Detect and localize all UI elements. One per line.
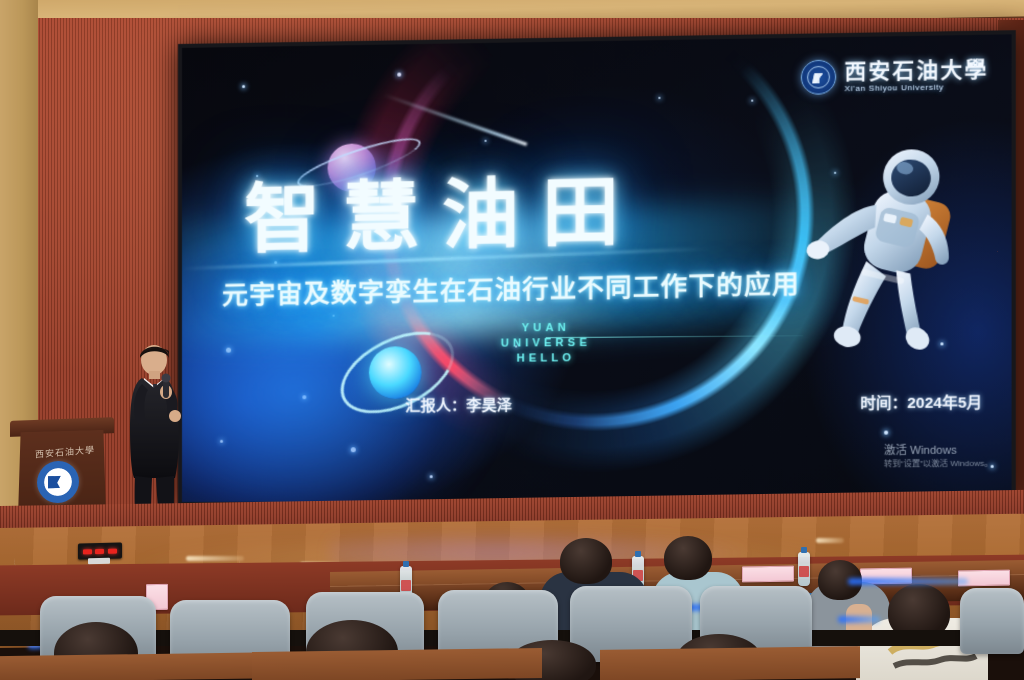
tagline-line-3: HELLO <box>501 351 591 367</box>
aisle-led-strip <box>838 616 880 623</box>
front-desk-top <box>600 646 860 680</box>
windows-activation-watermark: 激活 Windows 转到“设置”以激活 Windows。 <box>884 443 993 469</box>
podium-university-text: 西安石油大學 <box>35 442 107 461</box>
timer-segment <box>108 548 117 553</box>
university-logo: 西安石油大學 Xi'an Shiyou University <box>801 57 989 95</box>
cyan-planet <box>369 346 422 399</box>
slide-main-title: 智慧油田 <box>244 145 774 268</box>
university-name-en: Xi'an Shiyou University <box>844 80 988 93</box>
university-name-cn: 西安石油大學 <box>844 58 988 83</box>
timer-segment <box>83 549 92 554</box>
slide-meta-row: 汇报人：李昊泽 时间：2024年5月 <box>405 391 982 416</box>
astronaut-illustration <box>805 133 982 370</box>
timer-segment <box>95 548 104 553</box>
tagline-line-1: YUAN <box>501 321 591 337</box>
front-desk-top <box>252 648 542 680</box>
tagline-line-2: UNIVERSE <box>501 336 591 352</box>
date-label: 时间：2024年5月 <box>860 391 982 413</box>
attendee-head <box>560 538 612 584</box>
presenter-label: 汇报人：李昊泽 <box>405 394 512 416</box>
slide-tagline: YUAN UNIVERSE HELLO <box>501 321 591 367</box>
auditorium-seat[interactable] <box>960 588 1024 654</box>
water-bottle <box>798 552 810 586</box>
lecture-hall-photo: 西安石油大學 Xi'an Shiyou University 智慧油田 元宇宙及… <box>0 0 1024 680</box>
university-seal-icon <box>801 60 836 95</box>
watermark-line-1: 激活 Windows <box>884 443 993 458</box>
name-card <box>742 566 794 583</box>
aisle-led-strip <box>848 578 968 585</box>
led-projection-screen: 西安石油大學 Xi'an Shiyou University 智慧油田 元宇宙及… <box>178 30 1016 506</box>
attendee-head <box>664 536 712 580</box>
slide-background: 西安石油大學 Xi'an Shiyou University 智慧油田 元宇宙及… <box>182 34 1012 502</box>
floor-light-strip <box>816 538 844 543</box>
watermark-line-2: 转到“设置”以激活 Windows。 <box>884 458 993 470</box>
